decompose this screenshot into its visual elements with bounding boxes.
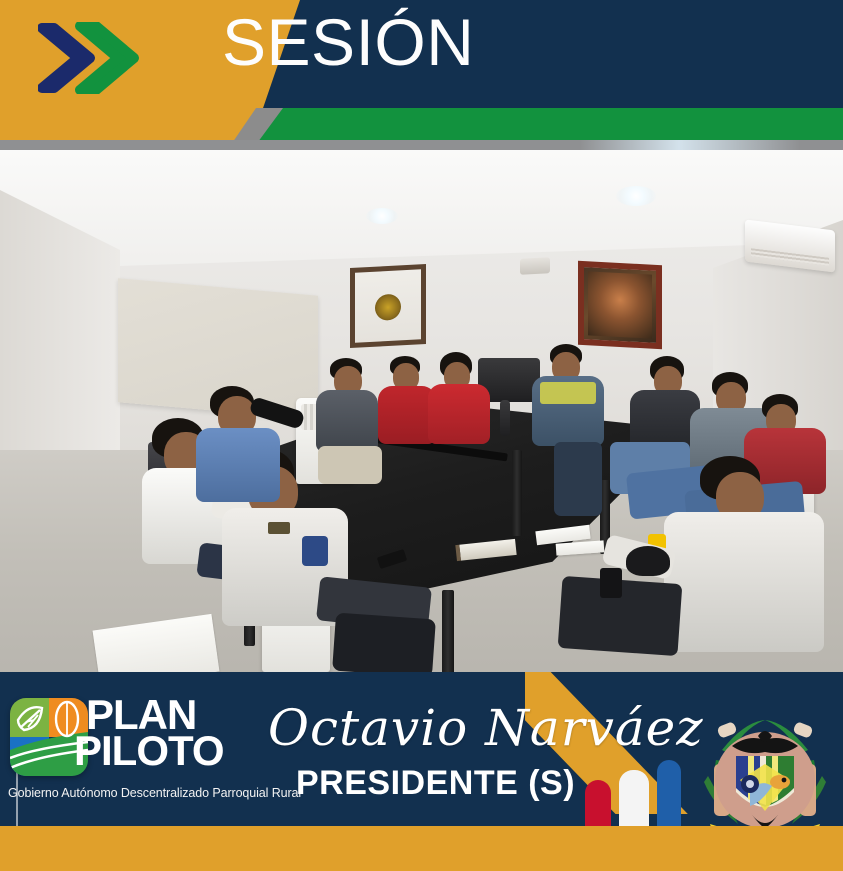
- table-leg-3: [512, 450, 522, 536]
- person-cap: [626, 546, 670, 576]
- bar-red: [585, 780, 611, 826]
- office-chair-1-base: [500, 400, 510, 436]
- footer-bottom-orange-bar: [0, 826, 843, 871]
- person-rank-patch: [268, 522, 290, 534]
- brand-name-line2: PILOTO: [74, 730, 224, 772]
- brand-tagline: Gobierno Autónomo Descentralizado Parroq…: [8, 786, 301, 800]
- person-safety-vest: [540, 382, 596, 404]
- framed-crest-emblem: [375, 294, 401, 321]
- president-name: Octavio Narváez: [268, 700, 704, 756]
- person-leg: [318, 446, 382, 484]
- person-torso: [664, 512, 824, 652]
- double-chevron-icon: [38, 22, 158, 92]
- coat-of-arms-icon: [692, 706, 838, 846]
- wall-speaker: [520, 257, 550, 275]
- page-title: SESIÓN: [222, 6, 474, 78]
- ac-vent: [751, 248, 829, 266]
- person-leg: [554, 442, 602, 516]
- president-role: PRESIDENTE (S): [296, 764, 575, 802]
- bar-white: [619, 770, 649, 826]
- bar-blue: [657, 760, 681, 826]
- table-leg-2: [442, 590, 454, 676]
- person-bag: [332, 613, 436, 678]
- person-torso: [316, 390, 378, 452]
- person-torso: [428, 384, 490, 444]
- poster-canvas: SESIÓN: [0, 0, 843, 871]
- person-shoulder-patch: [302, 536, 328, 566]
- framed-crest-picture: [350, 264, 426, 348]
- person-phone: [600, 568, 622, 598]
- poster-header: SESIÓN: [0, 0, 843, 152]
- meeting-photo: [0, 150, 843, 680]
- framed-painting: [578, 261, 662, 349]
- ceiling-light-1: [366, 208, 398, 224]
- poster-footer: PLAN PILOTO Gobierno Autónomo Descentral…: [0, 672, 843, 871]
- ceiling-light-2: [616, 186, 656, 206]
- painting-art: [588, 271, 652, 338]
- person-torso: [196, 428, 280, 502]
